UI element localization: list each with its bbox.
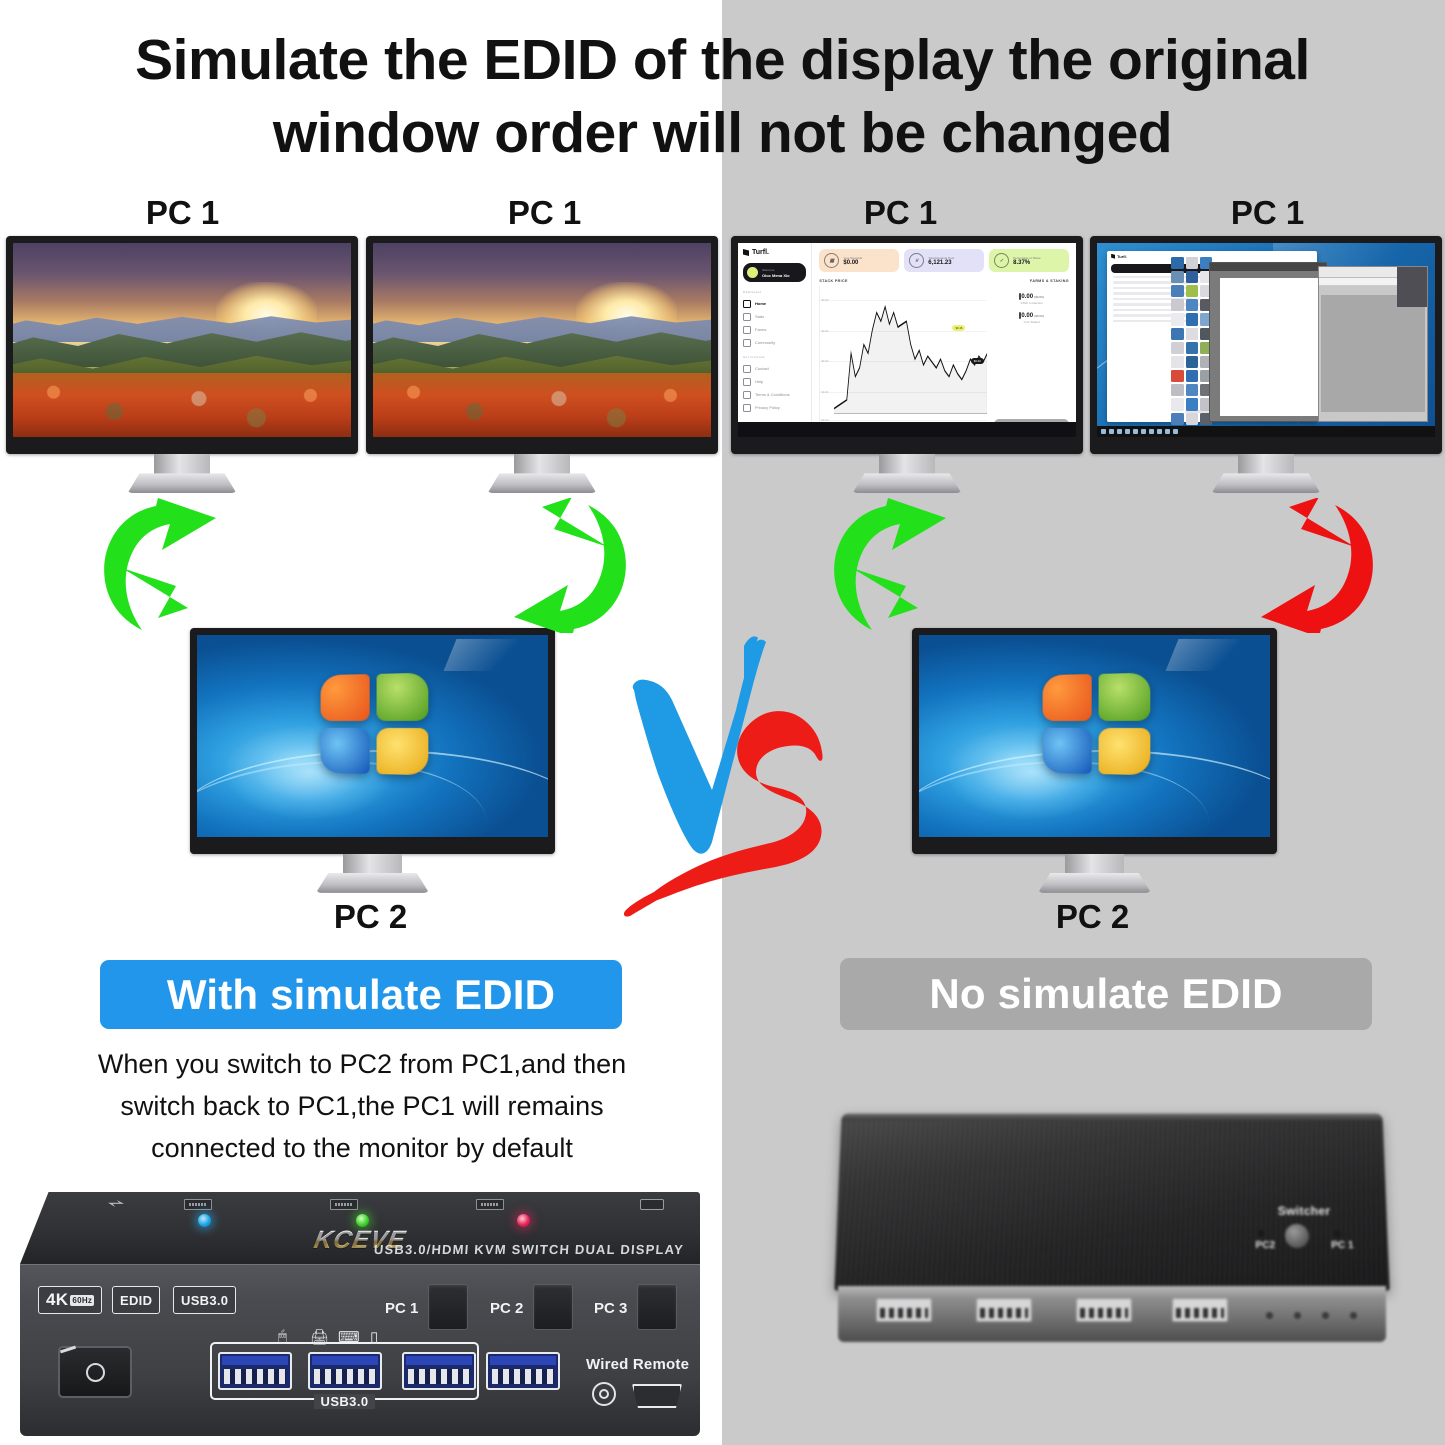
no-simulate-edid-banner: No simulate EDID bbox=[840, 958, 1372, 1030]
front-usb-port-1[interactable] bbox=[876, 1298, 932, 1322]
keyboard-icon: ⌨ bbox=[338, 1328, 360, 1346]
community-icon bbox=[743, 339, 751, 347]
monitor-neck bbox=[1238, 454, 1294, 474]
sidebar-item-label: Community bbox=[755, 340, 775, 345]
windows-7-wallpaper bbox=[197, 635, 548, 837]
headline-line-1: Simulate the EDID of the display the ori… bbox=[135, 28, 1310, 92]
stat-card-share: ✓ Percentage of Share 8.37% bbox=[989, 249, 1069, 272]
window-titlebar[interactable] bbox=[1210, 263, 1326, 271]
chart-plot-area: $0.50 $0.40 $0.30 $0.20 $0.10 $0.46 bbox=[819, 286, 987, 425]
y-tick: $0.50 bbox=[821, 298, 828, 302]
windows-logo-icon bbox=[320, 672, 428, 775]
wallpaper-corner-light bbox=[1165, 639, 1269, 671]
power-on-marker bbox=[60, 1346, 76, 1354]
usb3-port-2[interactable] bbox=[308, 1352, 382, 1390]
left-bottom-monitor bbox=[190, 628, 555, 893]
farm-item-harvest: 0.00 ($0.00) STAK to Harvest bbox=[1019, 294, 1043, 305]
brand-name: Turfl. bbox=[752, 249, 769, 256]
sidebar-item-label: Help bbox=[755, 379, 763, 384]
avatar bbox=[747, 267, 758, 278]
pc2-button[interactable] bbox=[533, 1284, 573, 1330]
foliage-texture bbox=[373, 373, 711, 437]
home-icon bbox=[743, 300, 751, 308]
sidebar-item-label: Contact bbox=[755, 366, 769, 371]
monitor-base bbox=[316, 873, 429, 893]
price-line-series bbox=[834, 292, 987, 415]
printer-icon: 🖨 bbox=[310, 1328, 329, 1346]
badge-4k-text: 4K bbox=[46, 1290, 68, 1310]
editor-canvas bbox=[1321, 295, 1425, 412]
pc3-button-label: PC 3 bbox=[594, 1300, 627, 1317]
nav-group-2-label: Get Involved bbox=[743, 355, 806, 359]
user-card[interactable]: Welcome Oloc Mena Xio bbox=[743, 263, 806, 282]
sunset-landscape-wallpaper bbox=[373, 243, 711, 437]
usb3-group-label: USB3.0 bbox=[314, 1394, 376, 1409]
pc1-label: PC 1 bbox=[1331, 1240, 1354, 1251]
wired-remote-label: Wired Remote bbox=[586, 1356, 689, 1373]
badge-4k: 4K 60Hz bbox=[38, 1286, 102, 1314]
stat-label: Total Rewards Pool bbox=[928, 256, 954, 260]
y-tick: $0.20 bbox=[821, 390, 828, 394]
document-icon bbox=[743, 404, 751, 412]
dashboard-brand: Turfl. bbox=[743, 249, 806, 256]
desktop-icon-grid[interactable] bbox=[1171, 257, 1212, 416]
farms-caption: FARMS & STAKING bbox=[1030, 279, 1069, 283]
with-simulate-edid-banner: With simulate EDID bbox=[100, 960, 622, 1029]
sidebar-item-label: Terms & Conditions bbox=[755, 392, 790, 397]
app-brand: Turfl. bbox=[1117, 254, 1127, 259]
farm-label: STAK to Harvest bbox=[1019, 301, 1043, 305]
monitor-bezel bbox=[366, 236, 718, 454]
sidebar-item-contact[interactable]: Contact bbox=[743, 362, 806, 375]
front-indicator-4 bbox=[1350, 1312, 1357, 1319]
pc1-button[interactable] bbox=[428, 1284, 468, 1330]
nav-group-1-label: Dashboard bbox=[743, 290, 806, 294]
device-tagline: USB3.0/HDMI KVM SWITCH DUAL DISPLAY bbox=[373, 1242, 684, 1257]
user-name: Oloc Mena Xio bbox=[762, 273, 790, 278]
right-top-monitor-1-label: PC 1 bbox=[778, 194, 1023, 232]
turfl-logo-icon bbox=[1111, 254, 1115, 259]
right-top-monitor-2: Turfl. bbox=[1090, 236, 1442, 493]
stat-cards: ▦ Your Rewards $0.00 ♕ Total Rewards Poo… bbox=[819, 249, 1069, 272]
left-green-arrow-up bbox=[498, 498, 638, 633]
farm-unit: ($0.00) bbox=[1034, 295, 1044, 299]
dashboard-main: ▦ Your Rewards $0.00 ♕ Total Rewards Poo… bbox=[812, 243, 1076, 437]
page-title: Simulate the EDID of the display the ori… bbox=[0, 24, 1445, 170]
front-usb-port-3[interactable] bbox=[1076, 1298, 1132, 1322]
y-tick: $0.40 bbox=[821, 329, 828, 333]
sidebar-item-farms[interactable]: Farms bbox=[743, 323, 806, 336]
kvm-top-edge bbox=[841, 1114, 1382, 1121]
power-switch[interactable] bbox=[58, 1346, 132, 1398]
right-bottom-monitor-label: PC 2 bbox=[970, 898, 1215, 936]
switcher-label: Switcher bbox=[1278, 1204, 1331, 1218]
stat-card-rewards: ▦ Your Rewards $0.00 bbox=[819, 249, 899, 272]
monitor-screen bbox=[919, 635, 1270, 837]
sidebar-item-terms[interactable]: Terms & Conditions bbox=[743, 388, 806, 401]
taskbar[interactable] bbox=[1097, 426, 1435, 438]
pc2-button-label: PC 2 bbox=[490, 1300, 523, 1317]
front-usb-port-4[interactable] bbox=[1172, 1298, 1228, 1322]
pc3-button[interactable] bbox=[637, 1284, 677, 1330]
stat-card-pool: ♕ Total Rewards Pool 6,121.23 bbox=[904, 249, 984, 272]
left-top-monitor-2-label: PC 1 bbox=[422, 194, 667, 232]
farms-staking-panel: FARMS & STAKING 0.00 ($0.00) STAK to Har… bbox=[994, 279, 1069, 431]
monitor-screen: Turfl. bbox=[1097, 243, 1435, 437]
pc1-indicator bbox=[1334, 1230, 1341, 1237]
wired-remote-port[interactable] bbox=[632, 1384, 682, 1408]
usb3-port-1[interactable] bbox=[218, 1352, 292, 1390]
dashboard-sidebar: Turfl. Welcome Oloc Mena Xio Dashboard H… bbox=[738, 243, 812, 437]
monitor-base bbox=[487, 473, 596, 493]
sidebar-item-community[interactable]: Community bbox=[743, 336, 806, 349]
front-usb-port-2[interactable] bbox=[976, 1298, 1032, 1322]
trophy-icon: ♕ bbox=[909, 253, 924, 268]
monitor-base bbox=[852, 473, 961, 493]
caption-line-3: connected to the monitor by default bbox=[42, 1128, 682, 1170]
left-top-monitor-1-label: PC 1 bbox=[60, 194, 305, 232]
right-top-monitor-1: Turfl. Welcome Oloc Mena Xio Dashboard H… bbox=[731, 236, 1083, 493]
monitor-screen bbox=[13, 243, 351, 437]
mouse-icon: 🖱 bbox=[278, 1328, 287, 1345]
chart-caption: STACK PRICE bbox=[819, 279, 987, 283]
headline-line-2: window order will not be changed bbox=[0, 97, 1445, 170]
vs-brush-graphic bbox=[620, 628, 850, 946]
wallpaper-corner-light bbox=[443, 639, 547, 671]
monitor-base bbox=[1211, 473, 1320, 493]
bank-icon: ▦ bbox=[824, 253, 839, 268]
kvm-body: Switcher PC2 PC 1 bbox=[834, 1114, 1389, 1291]
hdmi-port-icon-3 bbox=[476, 1199, 504, 1210]
monitor-screen bbox=[197, 635, 548, 837]
monitor-screen bbox=[373, 243, 711, 437]
stat-value: $0.00 bbox=[843, 260, 862, 266]
monitor-neck bbox=[343, 854, 401, 874]
right-bottom-monitor bbox=[912, 628, 1277, 893]
monitor-neck bbox=[514, 454, 570, 474]
sidebar-item-help[interactable]: Help bbox=[743, 375, 806, 388]
badge-usb3: USB3.0 bbox=[173, 1286, 236, 1314]
right-green-arrow-down bbox=[822, 498, 962, 633]
farms-icon bbox=[743, 326, 751, 334]
status-led-blue bbox=[198, 1214, 211, 1227]
sidebar-item-home[interactable]: Home bbox=[743, 297, 806, 310]
remote-key-icon bbox=[592, 1382, 616, 1406]
front-indicator-1 bbox=[1266, 1312, 1273, 1319]
minimized-panel bbox=[1397, 267, 1427, 307]
right-top-monitor-2-label: PC 1 bbox=[1145, 194, 1390, 232]
monitor-base bbox=[1038, 873, 1151, 893]
stat-label: Percentage of Share bbox=[1013, 256, 1041, 260]
chart-high-annotation: $0.46 bbox=[952, 325, 965, 331]
hdmi-port-icon-2 bbox=[330, 1199, 358, 1210]
sunset-landscape-wallpaper bbox=[13, 243, 351, 437]
left-bottom-monitor-label: PC 2 bbox=[248, 898, 493, 936]
power-port-icon bbox=[108, 1200, 124, 1207]
pc2-label: PC2 bbox=[1255, 1240, 1275, 1251]
stats-icon bbox=[743, 313, 751, 321]
document-window[interactable] bbox=[1209, 262, 1327, 421]
pc1-button-label: PC 1 bbox=[385, 1300, 418, 1317]
pc2-indicator bbox=[1258, 1230, 1265, 1237]
windows-7-wallpaper bbox=[919, 635, 1270, 837]
monitor-neck bbox=[154, 454, 210, 474]
badge-4k-hz-text: 60Hz bbox=[70, 1295, 94, 1306]
kvm-switch-photo: Switcher PC2 PC 1 bbox=[838, 1112, 1386, 1342]
monitor-bezel bbox=[190, 628, 555, 854]
caption-line-1: When you switch to PC2 from PC1,and then bbox=[42, 1044, 682, 1086]
y-tick: $0.30 bbox=[821, 359, 828, 363]
document-page bbox=[1220, 278, 1321, 417]
windows-desktop-cluttered: Turfl. bbox=[1097, 243, 1435, 437]
sidebar-item-stats[interactable]: Stats bbox=[743, 310, 806, 323]
sidebar-item-label: Farms bbox=[755, 327, 766, 332]
caption-line-2: switch back to PC1,the PC1 will remains bbox=[42, 1086, 682, 1128]
farm-label: Your Staked bbox=[1019, 320, 1043, 324]
sidebar-item-label: Home bbox=[755, 301, 766, 306]
usb-drive-icon: ▯ bbox=[370, 1328, 378, 1346]
front-indicator-3 bbox=[1322, 1312, 1329, 1319]
sidebar-item-label: Privacy Policy bbox=[755, 405, 780, 410]
turfl-dashboard: Turfl. Welcome Oloc Mena Xio Dashboard H… bbox=[738, 243, 1076, 437]
monitor-base bbox=[127, 473, 236, 493]
power-off-marker bbox=[86, 1363, 105, 1382]
windows-logo-icon bbox=[1042, 672, 1150, 775]
kvm-front-face bbox=[838, 1286, 1386, 1342]
turfl-logo-icon bbox=[743, 249, 749, 256]
kvm-switch-front: KCEVE USB3.0/HDMI KVM SWITCH DUAL DISPLA… bbox=[20, 1192, 700, 1436]
status-led-red bbox=[517, 1214, 530, 1227]
stack-price-chart: STACK PRICE $0.50 $0.40 $0.30 $0.20 $0.1… bbox=[819, 279, 987, 431]
monitor-bezel: Turfl. bbox=[1090, 236, 1442, 454]
monitor-neck bbox=[879, 454, 935, 474]
chart-current-annotation: $0.30 bbox=[971, 358, 984, 364]
usb3-port-4[interactable] bbox=[486, 1352, 560, 1390]
left-caption: When you switch to PC2 from PC1,and then… bbox=[42, 1044, 682, 1170]
infographic-root: Simulate the EDID of the display the ori… bbox=[0, 0, 1445, 1445]
foliage-texture bbox=[13, 373, 351, 437]
farm-unit: ($0.00) bbox=[1034, 314, 1044, 318]
shield-icon bbox=[743, 391, 751, 399]
stat-label: Your Rewards bbox=[843, 256, 862, 260]
sidebar-item-privacy[interactable]: Privacy Policy bbox=[743, 401, 806, 414]
farm-item-staked: 0.00 ($0.00) Your Staked bbox=[1019, 313, 1043, 324]
monitor-neck bbox=[1065, 854, 1123, 874]
front-indicator-2 bbox=[1294, 1312, 1301, 1319]
hdmi-port-icon-1 bbox=[184, 1199, 212, 1210]
taskbar bbox=[738, 422, 1076, 438]
phone-icon bbox=[743, 365, 751, 373]
switcher-knob[interactable] bbox=[1285, 1224, 1310, 1248]
right-red-arrow-up bbox=[1245, 498, 1385, 633]
farm-value: 0.00 bbox=[1021, 313, 1033, 319]
kvm-front-panel: 4K 60Hz EDID USB3.0 USB3.0 🖱 🖨 ⌨ ▯ PC 1 … bbox=[20, 1264, 700, 1436]
user-greeting: Welcome bbox=[762, 268, 790, 272]
monitor-bezel: Turfl. Welcome Oloc Mena Xio Dashboard H… bbox=[731, 236, 1083, 454]
stat-value: 8.37% bbox=[1013, 260, 1041, 266]
left-green-arrow-down bbox=[92, 498, 232, 633]
editor-window[interactable] bbox=[1318, 266, 1428, 421]
stat-value: 6,121.23 bbox=[928, 260, 954, 266]
monitor-screen: Turfl. Welcome Oloc Mena Xio Dashboard H… bbox=[738, 243, 1076, 437]
badge-edid: EDID bbox=[112, 1286, 160, 1314]
monitor-bezel bbox=[6, 236, 358, 454]
left-top-monitor-2 bbox=[366, 236, 718, 493]
kvm-top-panel: KCEVE USB3.0/HDMI KVM SWITCH DUAL DISPLA… bbox=[20, 1192, 700, 1264]
percent-icon: ✓ bbox=[994, 253, 1009, 268]
help-icon bbox=[743, 378, 751, 386]
farm-value: 0.00 bbox=[1021, 294, 1033, 300]
usb3-port-3[interactable] bbox=[402, 1352, 476, 1390]
usb-port-icon bbox=[640, 1199, 664, 1210]
monitor-bezel bbox=[912, 628, 1277, 854]
left-top-monitor-1 bbox=[6, 236, 358, 493]
sidebar-item-label: Stats bbox=[755, 314, 764, 319]
